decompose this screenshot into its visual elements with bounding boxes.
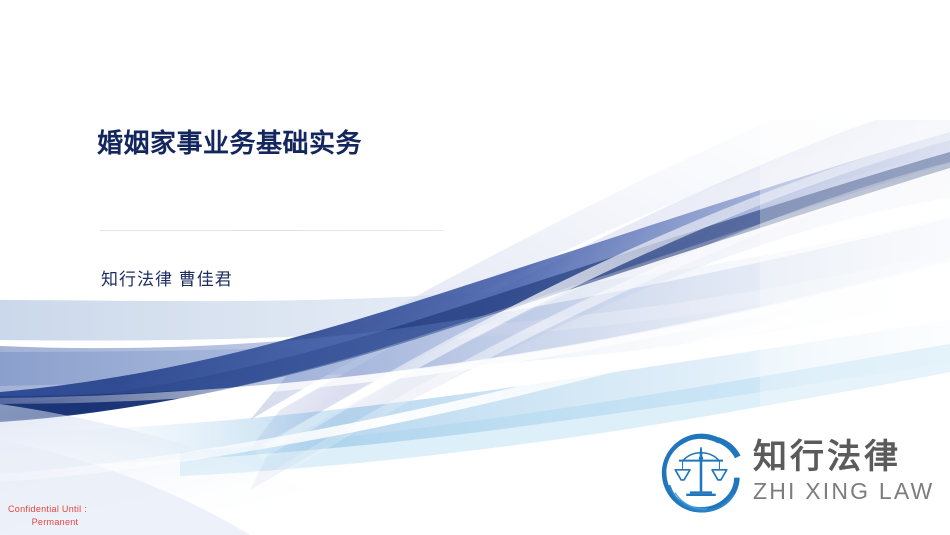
slide-subtitle: 知行法律 曹佳君 <box>101 265 233 290</box>
page-title: 婚姻家事业务基础实务 <box>97 128 517 159</box>
ribbon-mid-blue-band <box>0 218 950 396</box>
presentation-slide: 婚姻家事业务基础实务 知行法律 曹佳君 Confidential Until :… <box>0 0 950 535</box>
highlight-streak-upper <box>255 132 950 460</box>
confidential-note: Confidential Until : Permanent <box>8 503 128 529</box>
ribbon-pale-upper-right <box>250 55 950 420</box>
logo-chinese-name: 知行法律 <box>753 440 934 476</box>
title-divider <box>100 230 445 231</box>
confidential-line-2: Permanent <box>8 516 128 529</box>
confidential-line-1: Confidential Until : <box>8 503 128 516</box>
logo-english-name: ZHI XING LAW <box>753 478 934 504</box>
scales-of-justice-brush-circle-icon <box>655 427 747 519</box>
brush-circle-tail <box>718 437 741 458</box>
top-edge-fade <box>0 0 950 120</box>
company-logo: 知行法律 ZHI XING LAW <box>655 425 940 520</box>
title-block: 婚姻家事业务基础实务 <box>97 128 517 159</box>
logo-text-block: 知行法律 ZHI XING LAW <box>753 440 934 504</box>
scales-of-justice-glyph <box>675 447 727 496</box>
